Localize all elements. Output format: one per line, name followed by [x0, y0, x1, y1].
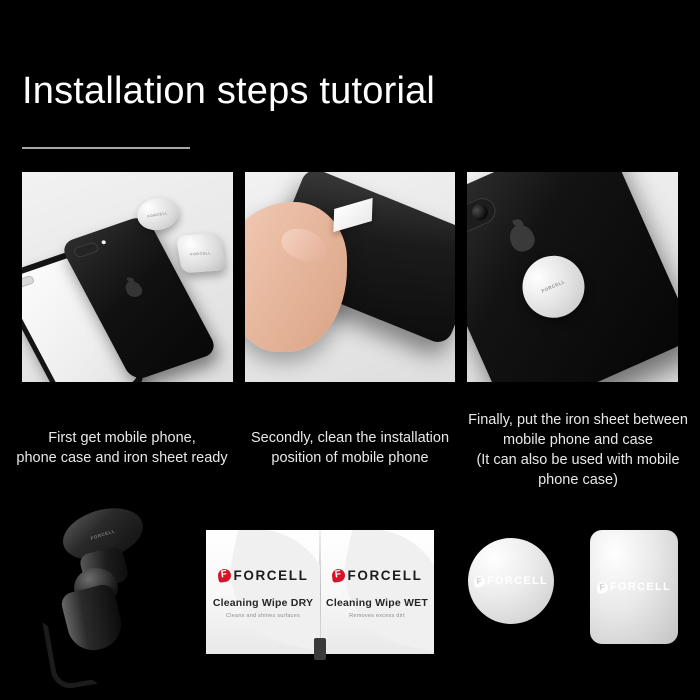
step-1-caption: First get mobile phone, phone case and i… [8, 406, 236, 490]
product-showcase-row: FORCELL FORCELL Cleaning Wipe DRY Cleans… [0, 500, 700, 700]
rectangular-iron-plate-illustration: FORCELL [175, 233, 226, 274]
phone-with-plate-illustration: FORCELL [467, 172, 678, 382]
forcell-mark-icon [473, 575, 485, 587]
forcell-brand-lockup: FORCELL [320, 568, 434, 583]
forcell-logo-icon: FORCELL [147, 210, 168, 218]
forcell-wordmark: FORCELL [234, 568, 309, 583]
step-3-scene: FORCELL [467, 172, 678, 382]
step-2-photo [245, 172, 456, 382]
forcell-brand-lockup: FORCELL [206, 568, 320, 583]
step-1-scene: FORCELL FORCELL [22, 172, 233, 382]
installation-tutorial-page: Installation steps tutorial FORCELL FORC… [0, 0, 700, 700]
magnetic-car-mount-product: FORCELL [40, 506, 170, 686]
step-2-caption: Secondly, clean the installation positio… [236, 406, 464, 490]
forcell-wordmark: FORCELL [610, 581, 671, 593]
forcell-logo-icon: FORCELL [541, 279, 566, 294]
wet-wipe-title: Cleaning Wipe WET [320, 597, 434, 609]
forcell-brand-lockup: FORCELL [474, 575, 548, 587]
step-2-scene [245, 172, 456, 382]
step-photos-row: FORCELL FORCELL [22, 172, 678, 382]
forcell-logo-icon: FORCELL [190, 250, 212, 256]
forcell-logo-icon: FORCELL [90, 528, 116, 541]
dry-wipe-title: Cleaning Wipe DRY [206, 597, 320, 609]
thumb-illustration [277, 224, 329, 266]
forcell-brand-lockup: FORCELL [597, 581, 671, 593]
hand-illustration [245, 202, 347, 352]
forcell-wordmark: FORCELL [487, 575, 548, 587]
attached-round-iron-plate: FORCELL [513, 246, 595, 328]
step-1-photo: FORCELL FORCELL [22, 172, 233, 382]
camera-module-icon [72, 241, 100, 259]
apple-logo-icon [123, 279, 145, 299]
dry-wipe-subtitle: Cleans and shines surfaces [206, 613, 320, 619]
forcell-mark-icon [596, 581, 608, 593]
wet-wipe-subtitle: Removes excess dirt [320, 613, 434, 619]
step-3-photo: FORCELL [467, 172, 678, 382]
forcell-mark-icon [331, 568, 346, 583]
dual-camera-icon [467, 194, 500, 241]
case-camera-cutout-icon [22, 275, 36, 290]
apple-logo-icon [506, 221, 539, 255]
forcell-wordmark: FORCELL [348, 568, 423, 583]
wet-wipe-sachet: FORCELL Cleaning Wipe WET Removes excess… [320, 530, 434, 654]
cleaning-wipes-packet-product: FORCELL Cleaning Wipe DRY Cleans and shi… [206, 530, 434, 654]
dry-wipe-sachet: FORCELL Cleaning Wipe DRY Cleans and shi… [206, 530, 320, 654]
title-underline-rule [22, 147, 190, 149]
step-3-caption: Finally, put the iron sheet between mobi… [464, 406, 692, 490]
forcell-mark-icon [217, 568, 232, 583]
rectangular-iron-plate-product: FORCELL [590, 530, 678, 644]
page-title: Installation steps tutorial [22, 68, 435, 114]
step-captions-row: First get mobile phone, phone case and i… [8, 406, 692, 490]
round-iron-plate-product: FORCELL [468, 538, 554, 624]
